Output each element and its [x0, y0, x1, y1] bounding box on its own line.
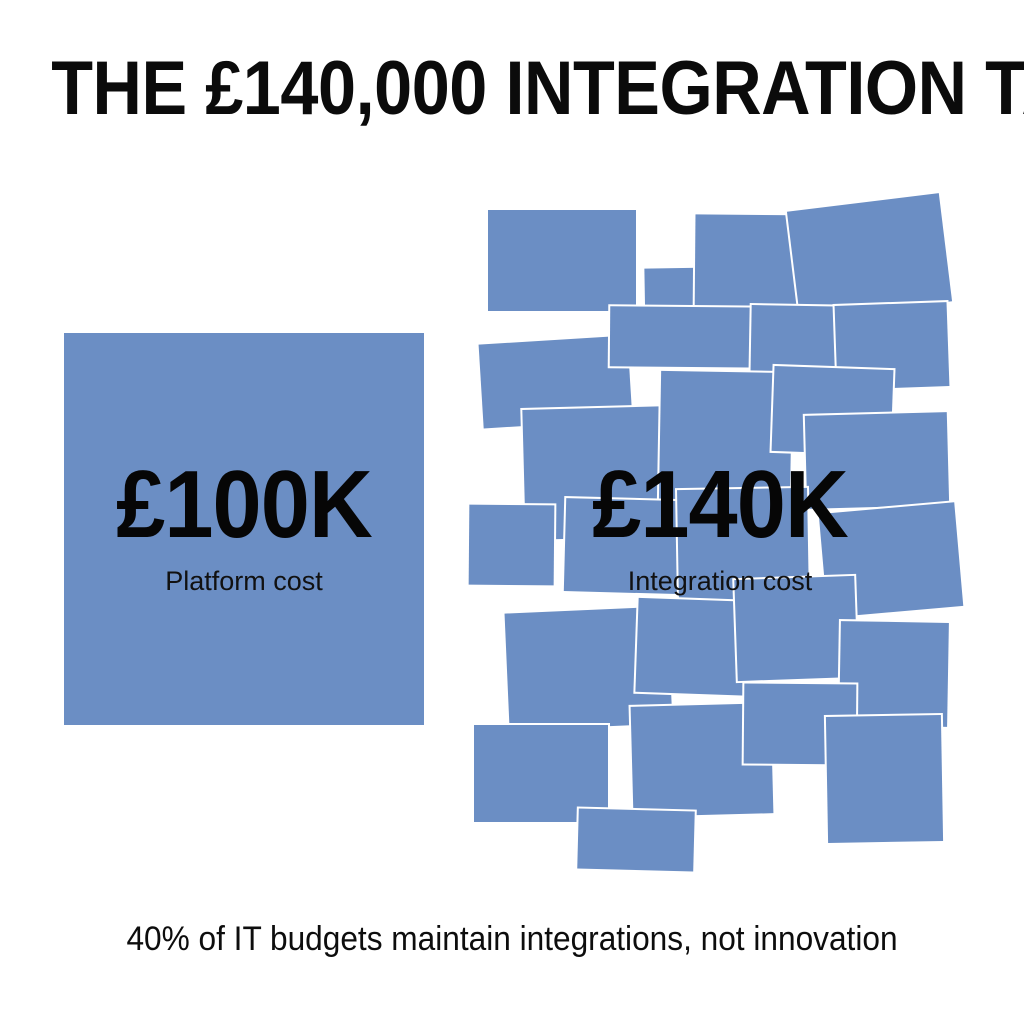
footer-caption: 40% of IT budgets maintain integrations,… [36, 918, 988, 960]
platform-cost-label: Platform cost [64, 565, 424, 597]
integration-fragment [577, 808, 695, 871]
integration-fragment [826, 715, 943, 843]
integration-cost-stat: £140K Integration cost [525, 455, 915, 597]
platform-cost-stat: £100K Platform cost [64, 455, 424, 597]
integration-cost-label: Integration cost [525, 565, 915, 597]
integration-cost-value: £140K [541, 455, 900, 555]
integration-fragment [488, 210, 636, 311]
infographic-canvas: THE £140,000 INTEGRATION TAX £100K Platf… [0, 0, 1024, 1024]
integration-fragment [474, 725, 608, 822]
integration-fragment [787, 193, 952, 320]
platform-cost-value: £100K [78, 455, 409, 555]
